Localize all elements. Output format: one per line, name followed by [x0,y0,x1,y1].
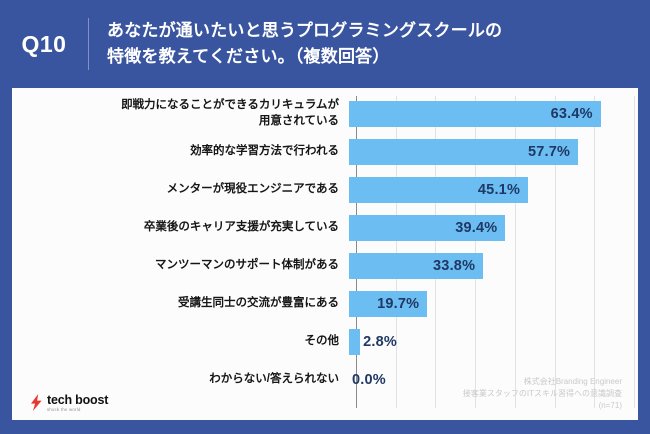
bar-value-label: 39.4% [349,213,497,243]
bar-value-label: 0.0% [352,365,386,395]
bar-track: 33.8% [348,251,638,281]
category-label: 受講生同士の交流が豊富にある [12,296,348,312]
chart-row: 卒業後のキャリア支援が充実している39.4% [12,213,638,243]
category-label: 卒業後のキャリア支援が充実している [12,220,348,236]
lightning-bolt-icon [30,394,43,411]
category-label: 即戦力になることができるカリキュラムが 用意されている [12,98,348,129]
chart-row: メンターが現役エンジニアである45.1% [12,175,638,205]
chart-row: 効率的な学習方法で行われる57.7% [12,137,638,167]
logo-tagline: shock the world [47,408,108,412]
bar-track: 63.4% [348,99,638,129]
bar-value-label: 33.8% [349,251,475,281]
category-label: 効率的な学習方法で行われる [12,144,348,160]
logo-name: tech boost [47,394,108,407]
bar-value-label: 45.1% [349,175,520,205]
bar-track: 45.1% [348,175,638,205]
bar[interactable] [349,329,360,355]
source-survey: 接客業スタッフのITスキル習得への意識調査 [463,388,622,400]
source-attribution: 株式会社Branding Engineer 接客業スタッフのITスキル習得への意… [463,376,622,412]
page-title: あなたが通いたいと思うプログラミングスクールの 特徴を教えてください。（複数回答… [89,18,516,71]
chart-row: 即戦力になることができるカリキュラムが 用意されている63.4% [12,99,638,129]
bar-track: 39.4% [348,213,638,243]
bar-track: 19.7% [348,289,638,319]
tech-boost-logo: tech boost shock the world [30,394,108,412]
question-number: Q10 [0,31,88,58]
bar-value-label: 57.7% [349,137,570,167]
source-sample-size: (n=71) [463,400,622,412]
chart-card: 即戦力になることができるカリキュラムが 用意されている63.4%効率的な学習方法… [12,88,638,420]
survey-chart-slide: Q10 あなたが通いたいと思うプログラミングスクールの 特徴を教えてください。（… [0,0,650,434]
category-label: マンツーマンのサポート体制がある [12,258,348,274]
bar-track: 57.7% [348,137,638,167]
bar-track: 2.8% [348,327,638,357]
category-label: メンターが現役エンジニアである [12,182,348,198]
bar-value-label: 19.7% [349,289,419,319]
logo-text: tech boost shock the world [47,394,108,412]
source-company: 株式会社Branding Engineer [463,376,622,388]
chart-row: 受講生同士の交流が豊富にある19.7% [12,289,638,319]
bar-value-label: 2.8% [363,327,397,357]
bar-chart: 即戦力になることができるカリキュラムが 用意されている63.4%効率的な学習方法… [12,88,638,420]
category-label: わからない/答えられない [12,372,348,388]
chart-row: マンツーマンのサポート体制がある33.8% [12,251,638,281]
bar-value-label: 63.4% [349,99,593,129]
page-title-line-1: あなたが通いたいと思うプログラミングスクールの [107,18,502,44]
chart-rows: 即戦力になることができるカリキュラムが 用意されている63.4%効率的な学習方法… [12,88,638,420]
slide-header: Q10 あなたが通いたいと思うプログラミングスクールの 特徴を教えてください。（… [0,0,650,88]
page-title-line-2: 特徴を教えてください。（複数回答） [107,44,502,70]
chart-row: その他2.8% [12,327,638,357]
category-label: その他 [12,334,348,350]
